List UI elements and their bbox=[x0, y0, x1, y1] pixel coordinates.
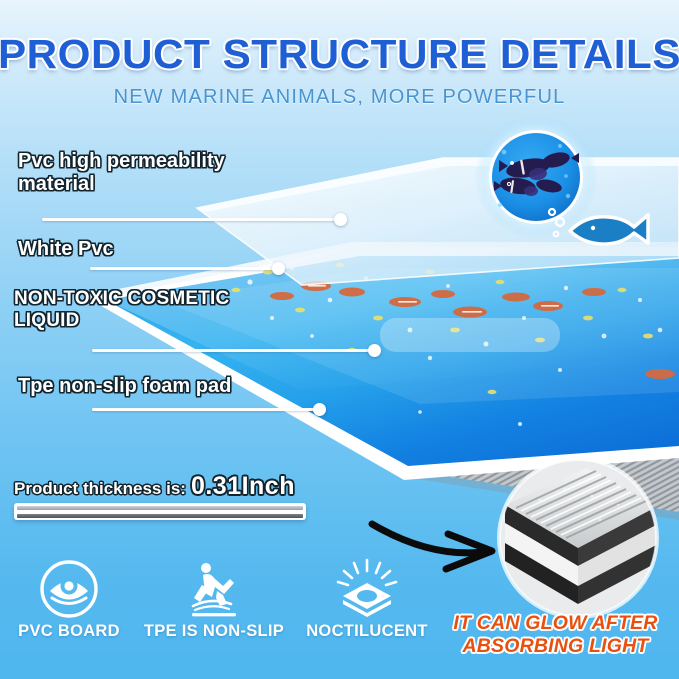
leader-line-1 bbox=[42, 218, 342, 221]
feature-label-tpe-non-slip: TPE IS NON-SLIP bbox=[134, 622, 294, 641]
glow-callout-line-2: ABSORBING LIGHT bbox=[432, 635, 679, 658]
feature-noctilucent: NOCTILUCENT bbox=[292, 558, 442, 641]
leader-line-3 bbox=[92, 349, 377, 352]
thickness-bar-layer-top bbox=[17, 506, 303, 510]
page-title: PRODUCT STRUCTURE DETAILS bbox=[0, 31, 679, 78]
leader-line-2 bbox=[90, 267, 280, 270]
layer-tpe-foam-pad bbox=[301, 305, 679, 520]
thickness-label: Product thickness is: bbox=[14, 479, 186, 498]
layer-label-white-pvc: White Pvc bbox=[18, 238, 114, 261]
layer-label-tpe-non-slip-foam-pad: Tpe non-slip foam pad bbox=[18, 375, 231, 398]
marine-fish-badge bbox=[474, 115, 648, 244]
slip-warning-icon bbox=[134, 558, 294, 620]
leader-dot-4 bbox=[313, 403, 326, 416]
page-subtitle: NEW MARINE ANIMALS, MORE POWERFUL bbox=[0, 86, 679, 109]
glowing-pad-icon bbox=[292, 558, 442, 620]
feature-label-pvc-board: PVC BOARD bbox=[4, 622, 134, 641]
leader-dot-3 bbox=[368, 344, 381, 357]
layer-label-pvc-high-permeability-material: Pvc high permeability material bbox=[18, 150, 268, 196]
leader-dot-1 bbox=[334, 213, 347, 226]
product-structure-infographic: PRODUCT STRUCTURE DETAILS NEW MARINE ANI… bbox=[0, 0, 679, 679]
feature-row: PVC BOARD TPE IS NON-SLIP bbox=[0, 558, 440, 668]
feature-tpe-non-slip: TPE IS NON-SLIP bbox=[134, 558, 294, 641]
foam-layers-detail-circle bbox=[498, 458, 660, 620]
leader-line-4 bbox=[92, 408, 322, 411]
header: PRODUCT STRUCTURE DETAILS NEW MARINE ANI… bbox=[0, 0, 679, 125]
teal-fish-icon bbox=[549, 209, 648, 244]
feature-label-noctilucent: NOCTILUCENT bbox=[292, 622, 442, 641]
layer-printed-mat bbox=[84, 242, 679, 480]
layer-transparent-pvc-sheet bbox=[197, 158, 679, 285]
glow-callout: IT CAN GLOW AFTER ABSORBING LIGHT bbox=[432, 612, 679, 658]
thickness-value: 0.31Inch bbox=[191, 472, 295, 500]
feature-pvc-board: PVC BOARD bbox=[4, 558, 134, 641]
thickness-bar bbox=[14, 503, 306, 520]
leader-dot-2 bbox=[272, 262, 285, 275]
glow-callout-line-1: IT CAN GLOW AFTER bbox=[453, 612, 657, 634]
thickness-bar-layer-bottom bbox=[17, 514, 303, 518]
eye-icon bbox=[4, 558, 134, 620]
layer-label-non-toxic-cosmetic-liquid: NON-TOXIC COSMETIC LIQUID bbox=[14, 288, 274, 331]
thickness-callout: Product thickness is:0.31Inch bbox=[14, 472, 295, 501]
